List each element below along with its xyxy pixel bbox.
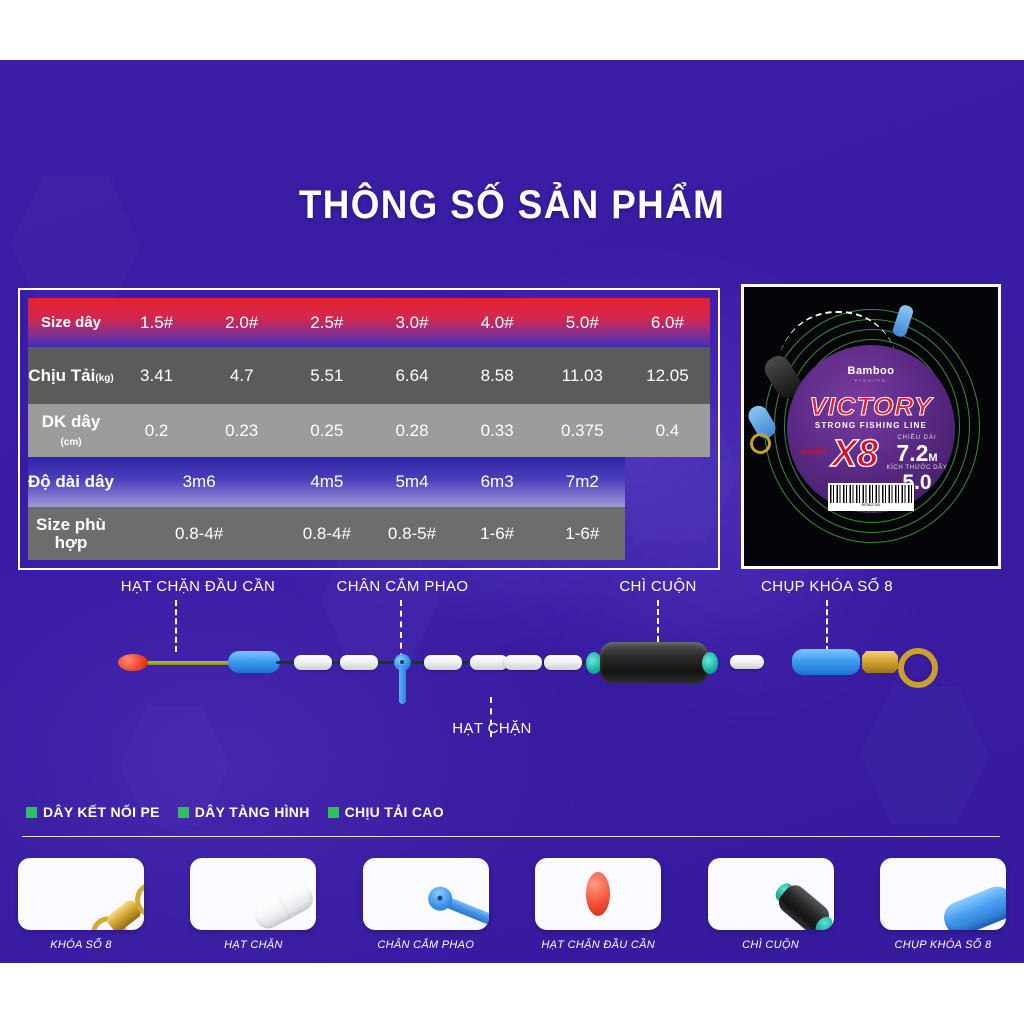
lead-weight-icon xyxy=(600,642,708,684)
table-cell: 2.0# xyxy=(199,298,284,347)
table-cell: 0.2 xyxy=(114,404,199,457)
card-khoa-so-8[interactable]: KHÓA SỐ 8 xyxy=(18,858,144,951)
table-cell: 5.51 xyxy=(284,347,369,404)
white-bead-icon xyxy=(424,655,462,670)
rig-label-chup-khoa-so-8: CHỤP KHÓA SỐ 8 xyxy=(752,578,902,595)
section-divider xyxy=(22,836,1000,837)
blue-sleeve-icon xyxy=(939,882,1006,930)
legend-label: CHỊU TẢI CAO xyxy=(345,804,444,820)
table-row: DK dây(cm) 0.2 0.23 0.25 0.28 0.33 0.375… xyxy=(28,404,710,457)
legend-item: DÂY TÀNG HÌNH xyxy=(178,804,310,820)
purple-banner: THÔNG SỐ SẢN PHẨM Size dây 1.5# 2.0# 2.5… xyxy=(0,60,1024,963)
rig-label-chan-cam-phao: CHÂN CẮM PHAO xyxy=(320,578,485,595)
card-label: KHÓA SỐ 8 xyxy=(18,939,144,951)
card-hat-chan-dau-can[interactable]: HẠT CHẶN ĐẦU CẦN xyxy=(535,858,661,951)
table-cell: 4.7 xyxy=(199,347,284,404)
table-cell: 11.03 xyxy=(540,347,625,404)
blue-sleeve-icon xyxy=(228,651,280,673)
row-label: Size phù hợp xyxy=(28,507,114,560)
table-cell: 0.23 xyxy=(199,404,284,457)
table-cell: 6m3 xyxy=(455,457,540,507)
white-bead-icon xyxy=(294,655,332,670)
table-cell: 3m6 xyxy=(114,457,284,507)
rig-line-pe xyxy=(135,661,235,665)
table-cell: 3.41 xyxy=(114,347,199,404)
table-cell: 0.4 xyxy=(625,404,710,457)
row-label: Độ dài dây xyxy=(28,457,114,507)
card-chup-khoa-so-8[interactable]: CHỤP KHÓA SỐ 8 xyxy=(880,858,1006,951)
table-cell: 0.8-5# xyxy=(369,507,454,560)
card-label: HẠT CHẶN ĐẦU CẦN xyxy=(535,939,661,951)
table-cell: 2.5# xyxy=(284,298,369,347)
lead-weight-icon xyxy=(769,876,834,930)
table-cell: 4.0# xyxy=(455,298,540,347)
card-label: HẠT CHẶN xyxy=(190,939,316,951)
rig-label-hat-chan: HẠT CHẶN xyxy=(432,720,552,737)
brand-subtitle: FISHING xyxy=(787,378,955,383)
legend-bullet-icon xyxy=(178,807,189,818)
leader-line xyxy=(657,600,659,642)
gold-swivel-icon xyxy=(77,872,144,930)
legend-item: DÂY KẾT NỐI PE xyxy=(26,804,160,820)
barcode: 6975627261 xyxy=(828,483,914,511)
table-cell: 0.8-4# xyxy=(114,507,284,560)
product-photo: Bamboo FISHING VICTORY STRONG FISHING LI… xyxy=(741,284,1001,569)
table-cell: 0.8-4# xyxy=(284,507,369,560)
float-stem-shaft xyxy=(399,666,406,704)
rig-label-hat-chan-dau-can: HẠT CHẶN ĐẦU CẦN xyxy=(108,578,288,595)
card-image xyxy=(190,858,316,930)
rig-label-chi-cuon: CHÌ CUỘN xyxy=(608,578,708,595)
table-cell: 0.25 xyxy=(284,404,369,457)
component-cards: KHÓA SỐ 8 HẠT CHẶN CHÂN CẮM PHAO xyxy=(18,858,1006,951)
swivel-ring-icon xyxy=(898,648,938,688)
table-cell: 6.0# xyxy=(625,298,710,347)
table-cell: 8.58 xyxy=(455,347,540,404)
table-cell: 7m2 xyxy=(540,457,625,507)
table-row: Size dây 1.5# 2.0# 2.5# 3.0# 4.0# 5.0# 6… xyxy=(28,298,710,347)
table-cell: 5.0# xyxy=(540,298,625,347)
table-cell: 1-6# xyxy=(540,507,625,560)
card-image xyxy=(535,858,661,930)
red-bead-icon xyxy=(118,654,148,671)
swivel-body-icon xyxy=(862,651,898,673)
leader-line xyxy=(175,600,177,652)
card-label: CHÂN CẮM PHAO xyxy=(363,939,489,951)
table-cell: 6.64 xyxy=(369,347,454,404)
white-bead-icon xyxy=(251,881,316,930)
table-cell: 1-6# xyxy=(455,507,540,560)
row-label: DK dây(cm) xyxy=(28,404,114,457)
legend-bullet-icon xyxy=(26,807,37,818)
legend-bullet-icon xyxy=(328,807,339,818)
white-bead-icon xyxy=(730,655,764,669)
page-title: THÔNG SỐ SẢN PHẨM xyxy=(41,183,983,228)
table-row: Size phù hợp 0.8-4# 0.8-4# 0.8-5# 1-6# 1… xyxy=(28,507,710,560)
float-stem-icon xyxy=(423,881,489,930)
table-cell: 0.375 xyxy=(540,404,625,457)
card-image xyxy=(708,858,834,930)
table-cell: 3.0# xyxy=(369,298,454,347)
table-cell: 1.5# xyxy=(114,298,199,347)
blue-sleeve-icon xyxy=(792,649,860,675)
white-bead-icon xyxy=(470,655,508,670)
white-bead-icon xyxy=(504,655,542,670)
row-label: Chịu Tải(kg) xyxy=(28,347,114,404)
card-image xyxy=(363,858,489,930)
card-image xyxy=(18,858,144,930)
card-label: CHỤP KHÓA SỐ 8 xyxy=(880,939,1006,951)
legend-label: DÂY TÀNG HÌNH xyxy=(195,804,310,820)
white-bead-icon xyxy=(340,655,378,670)
product-spec-page: THÔNG SỐ SẢN PHẨM Size dây 1.5# 2.0# 2.5… xyxy=(0,0,1024,1024)
barcode-number: 6975627261 xyxy=(830,503,912,507)
legend-item: CHỊU TẢI CAO xyxy=(328,804,444,820)
table-cell: 0.33 xyxy=(455,404,540,457)
table-cell: 5m4 xyxy=(369,457,454,507)
card-image xyxy=(880,858,1006,930)
card-hat-chan[interactable]: HẠT CHẶN xyxy=(190,858,316,951)
table-cell: 0.28 xyxy=(369,404,454,457)
leader-line xyxy=(826,600,828,652)
length-value: 7.2M xyxy=(883,441,951,466)
red-bead-icon xyxy=(586,872,610,916)
spec-table: Size dây 1.5# 2.0# 2.5# 3.0# 4.0# 5.0# 6… xyxy=(28,298,710,560)
product-name: VICTORY xyxy=(783,393,959,422)
legend: DÂY KẾT NỐI PE DÂY TÀNG HÌNH CHỊU TẢI CA… xyxy=(26,804,444,820)
card-chan-cam-phao[interactable]: CHÂN CẮM PHAO xyxy=(363,858,489,951)
teal-cap-icon xyxy=(702,652,718,674)
legend-label: DÂY KẾT NỐI PE xyxy=(43,804,160,820)
card-label: CHÌ CUỘN xyxy=(708,939,834,951)
brand-name: Bamboo xyxy=(787,365,955,377)
white-bead-icon xyxy=(544,655,582,670)
table-row: Chịu Tải(kg) 3.41 4.7 5.51 6.64 8.58 11.… xyxy=(28,347,710,404)
table-row: Độ dài dây 3m6 4m5 5m4 6m3 7m2 xyxy=(28,457,710,507)
product-tagline: STRONG FISHING LINE xyxy=(787,421,955,430)
spec-table-container: Size dây 1.5# 2.0# 2.5# 3.0# 4.0# 5.0# 6… xyxy=(18,288,720,570)
card-chi-cuon[interactable]: CHÌ CUỘN xyxy=(708,858,834,951)
table-cell: 12.05 xyxy=(625,347,710,404)
row-label: Size dây xyxy=(28,298,114,347)
table-cell: 4m5 xyxy=(284,457,369,507)
